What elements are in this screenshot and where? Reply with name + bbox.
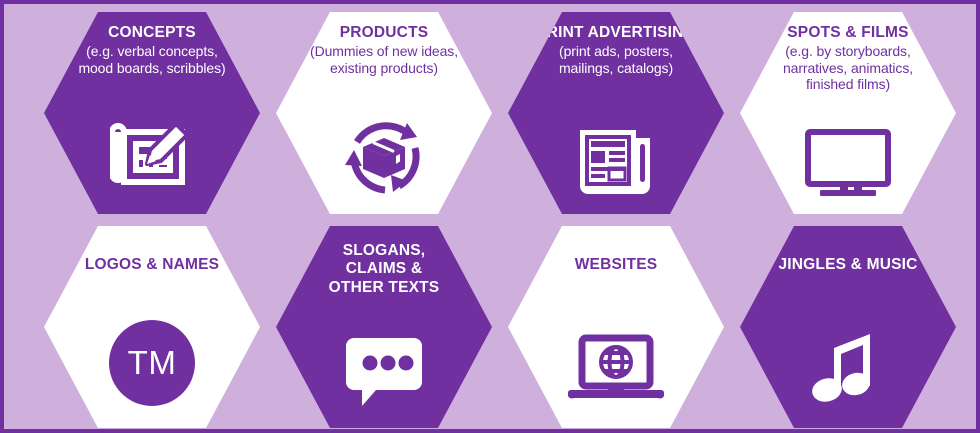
hex-subtitle: (Dummies of new ideas, existing products… <box>289 43 479 76</box>
infographic-canvas: CONCEPTS (e.g. verbal concepts, mood boa… <box>0 0 980 433</box>
trademark-badge-icon: TM <box>109 320 195 406</box>
hex-text-block: SLOGANS, CLAIMS & OTHER TEXTS <box>289 242 479 298</box>
hex-cell-jingles-and-music[interactable]: JINGLES & MUSIC <box>740 226 956 428</box>
hex-cell-products[interactable]: PRODUCTS (Dummies of new ideas, existing… <box>276 12 492 214</box>
hex-cell-concepts[interactable]: CONCEPTS (e.g. verbal concepts, mood boa… <box>44 12 260 214</box>
speech-bubble-icon <box>344 334 424 406</box>
music-note-icon <box>812 328 884 406</box>
hex-text-block: SPOTS & FILMS (e.g. by storyboards, narr… <box>753 24 943 93</box>
hex-cell-slogans-claims-other-texts[interactable]: SLOGANS, CLAIMS & OTHER TEXTS <box>276 226 492 428</box>
hex-text-block: JINGLES & MUSIC <box>753 256 943 275</box>
hex-cell-print-advertising[interactable]: PRINT ADVERTISING (print ads, posters, m… <box>508 12 724 214</box>
hex-cell-spots-and-films[interactable]: SPOTS & FILMS (e.g. by storyboards, narr… <box>740 12 956 214</box>
hex-title: JINGLES & MUSIC <box>753 256 943 274</box>
hex-title: PRINT ADVERTISING <box>521 24 711 42</box>
hex-title: LOGOS & NAMES <box>57 256 247 274</box>
hex-subtitle: (print ads, posters, mailings, catalogs) <box>521 43 711 76</box>
laptop-globe-icon <box>568 334 664 406</box>
newspaper-icon <box>576 124 656 198</box>
box-recycle-arrows-icon <box>341 116 427 198</box>
hexagon-grid: CONCEPTS (e.g. verbal concepts, mood boa… <box>4 4 980 433</box>
hex-title: SLOGANS, CLAIMS & OTHER TEXTS <box>289 242 479 297</box>
hex-cell-websites[interactable]: WEBSITES <box>508 226 724 428</box>
hex-text-block: PRINT ADVERTISING (print ads, posters, m… <box>521 24 711 76</box>
blueprint-pencil-icon <box>110 122 194 198</box>
trademark-label: TM <box>109 320 195 406</box>
hex-subtitle: (e.g. verbal concepts, mood boards, scri… <box>57 43 247 76</box>
hex-cell-logos-and-names[interactable]: LOGOS & NAMES TM <box>44 226 260 428</box>
television-icon <box>804 128 892 198</box>
hex-title: WEBSITES <box>521 256 711 274</box>
hex-title: PRODUCTS <box>289 24 479 42</box>
hex-text-block: PRODUCTS (Dummies of new ideas, existing… <box>289 24 479 76</box>
hex-title: CONCEPTS <box>57 24 247 42</box>
hex-text-block: CONCEPTS (e.g. verbal concepts, mood boa… <box>57 24 247 76</box>
hex-text-block: LOGOS & NAMES <box>57 256 247 275</box>
hex-title: SPOTS & FILMS <box>753 24 943 42</box>
hex-subtitle: (e.g. by storyboards, narratives, animat… <box>753 43 943 93</box>
hex-text-block: WEBSITES <box>521 256 711 275</box>
